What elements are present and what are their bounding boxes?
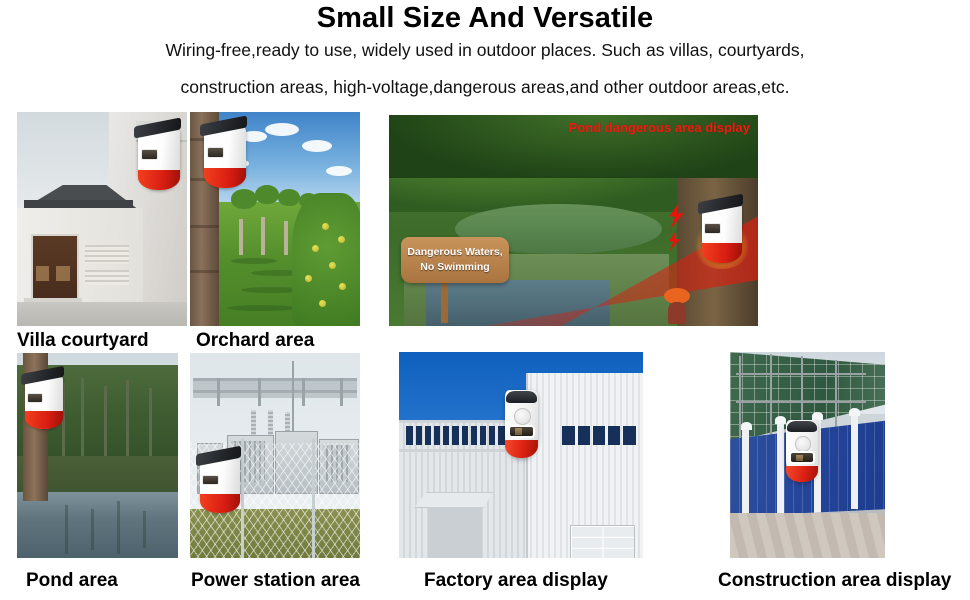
photo-power-station-area (190, 353, 360, 558)
warning-sign: Dangerous Waters, No Swimming (401, 237, 509, 283)
subtitle-line-2: construction areas, high-voltage,dangero… (0, 77, 970, 98)
alarm-device (138, 128, 180, 190)
caption-power-station-area: Power station area (191, 570, 360, 592)
photo-villa-courtyard (17, 112, 187, 326)
photo-orchard-area (190, 112, 360, 326)
alarm-device (204, 126, 246, 188)
alarm-device (786, 420, 818, 482)
photo-pond-area (17, 353, 178, 558)
pond-danger-label: Pond dangerous area display (569, 120, 750, 135)
caption-orchard-area: Orchard area (196, 330, 314, 352)
caption-construction-area: Construction area display (718, 570, 951, 592)
page-title: Small Size And Versatile (0, 2, 970, 35)
alarm-device (25, 375, 63, 429)
alarm-device (200, 455, 240, 513)
product-feature-image: Small Size And Versatile Wiring-free,rea… (0, 0, 970, 600)
person-silhouette (664, 288, 690, 324)
sign-text-line-2: No Swimming (401, 261, 509, 274)
caption-pond-area: Pond area (26, 570, 118, 592)
photo-factory-area (399, 352, 643, 558)
sign-text-line-1: Dangerous Waters, (401, 246, 509, 259)
photo-pond-dangerous-area: Dangerous Waters, No Swimming Pond dange… (389, 115, 758, 326)
alarm-device (505, 390, 538, 458)
caption-villa-courtyard: Villa courtyard (17, 330, 149, 352)
caption-factory-area: Factory area display (424, 570, 608, 592)
photo-construction-area (730, 352, 885, 558)
alarm-device (702, 203, 742, 263)
subtitle-line-1: Wiring-free,ready to use, widely used in… (0, 40, 970, 61)
